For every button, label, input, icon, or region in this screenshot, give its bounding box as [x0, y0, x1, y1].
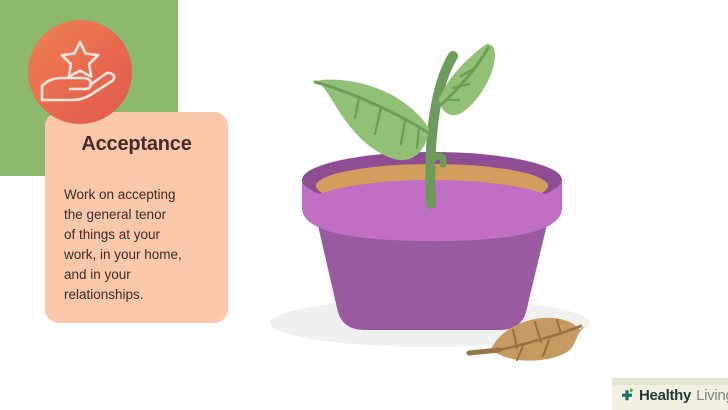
logo-secondary-text: Living	[696, 387, 728, 404]
card-title: Acceptance	[45, 133, 228, 156]
logo-accent-strip	[612, 378, 728, 385]
icon-badge	[28, 20, 132, 124]
card-body-line: Work on accepting	[64, 185, 219, 205]
card-body-line: work, in your home,	[64, 245, 219, 265]
card-body-line: of things at your	[64, 225, 219, 245]
slide-canvas: Acceptance Work on accepting the general…	[0, 0, 728, 410]
card-body-line: relationships.	[64, 285, 219, 305]
card-body-line: and in your	[64, 265, 219, 285]
cross-leaf-icon	[618, 386, 637, 405]
healthy-living-logo: Healthy Living	[618, 386, 728, 405]
card-body-text: Work on accepting the general tenor of t…	[64, 185, 219, 305]
logo-primary-text: Healthy	[639, 387, 691, 404]
hand-holding-star-icon	[28, 20, 132, 124]
card-body-line: the general tenor	[64, 205, 219, 225]
potted-seedling-illustration	[255, 8, 615, 368]
leaf-lower-left	[313, 80, 429, 160]
